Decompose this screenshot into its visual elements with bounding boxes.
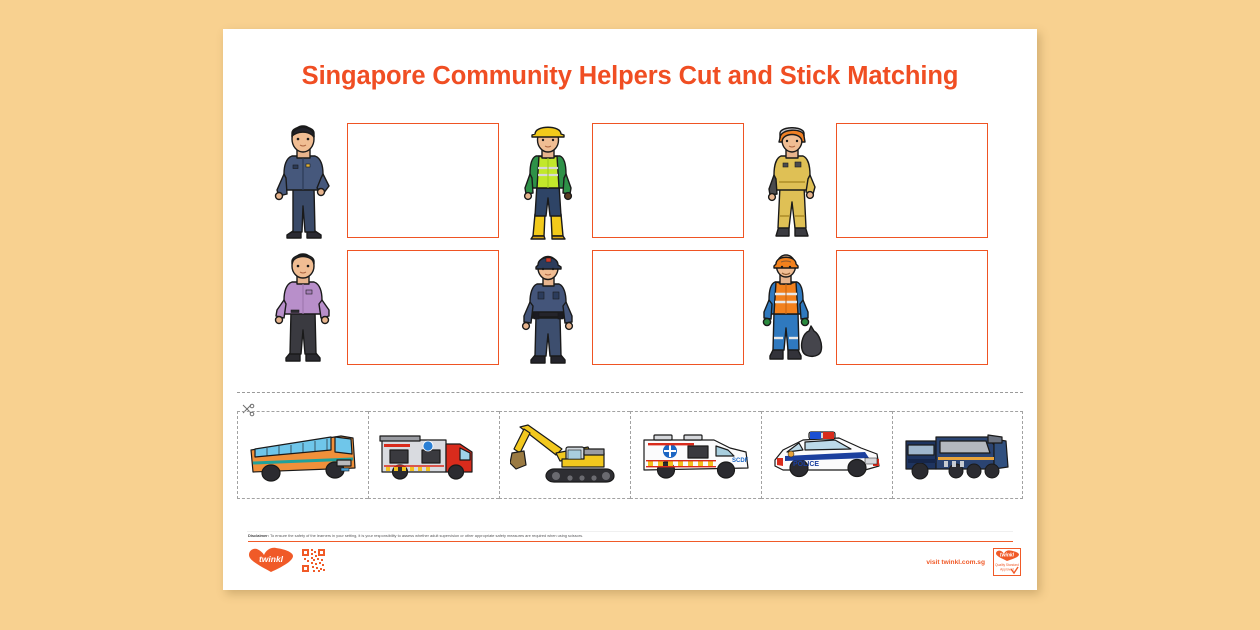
refuse-collector-icon bbox=[754, 248, 830, 368]
match-pair-police-officer bbox=[265, 117, 510, 244]
police-officer-cap-icon bbox=[510, 248, 586, 368]
matching-grid bbox=[265, 117, 999, 371]
brand-right: visit twinkl.com.sg twinkl Quality Stand… bbox=[926, 548, 1021, 576]
visit-link[interactable]: visit twinkl.com.sg bbox=[926, 559, 985, 566]
footer-orange-rule bbox=[248, 541, 1013, 542]
svg-text:SCDF: SCDF bbox=[732, 458, 749, 464]
cut-out-excavator[interactable] bbox=[499, 411, 630, 499]
answer-box[interactable] bbox=[836, 123, 988, 238]
answer-box[interactable] bbox=[592, 123, 744, 238]
svg-text:twinkl: twinkl bbox=[1000, 553, 1015, 559]
disclaimer-body: To ensure the safety of the learners in … bbox=[269, 533, 583, 538]
qr-code-icon[interactable] bbox=[301, 548, 326, 573]
bus-driver-icon bbox=[265, 248, 341, 368]
cut-out-bus[interactable] bbox=[237, 411, 368, 499]
svg-text:POLICE: POLICE bbox=[793, 461, 819, 468]
match-pair-refuse-collector bbox=[754, 244, 999, 371]
cut-out-police-car[interactable]: POLICE bbox=[761, 411, 892, 499]
worksheet-page: Singapore Community Helpers Cut and Stic… bbox=[223, 29, 1037, 590]
firefighter-icon bbox=[754, 121, 830, 241]
twinkl-quality-badge-icon: twinkl Quality Standard Approved bbox=[993, 548, 1021, 576]
svg-text:Quality Standard: Quality Standard bbox=[995, 563, 1019, 567]
disclaimer-text: Disclaimer: To ensure the safety of the … bbox=[248, 533, 948, 539]
disclaimer-label: Disclaimer: bbox=[248, 533, 269, 538]
police-officer-icon bbox=[265, 121, 341, 241]
footer-divider bbox=[247, 531, 1013, 532]
answer-box[interactable] bbox=[347, 250, 499, 365]
match-pair-firefighter bbox=[754, 117, 999, 244]
cut-out-fire-engine[interactable] bbox=[368, 411, 499, 499]
cut-out-refuse-truck[interactable] bbox=[892, 411, 1023, 499]
brand-left: twinkl bbox=[248, 547, 326, 573]
cut-out-strip: SCDF POLICE bbox=[237, 411, 1023, 499]
answer-box[interactable] bbox=[836, 250, 988, 365]
match-pair-police-officer-cap bbox=[510, 244, 755, 371]
svg-text:twinkl: twinkl bbox=[259, 554, 284, 564]
cut-out-ambulance[interactable]: SCDF bbox=[630, 411, 761, 499]
match-pair-construction-worker bbox=[510, 117, 755, 244]
cut-line-divider bbox=[237, 392, 1023, 393]
twinkl-heart-logo-icon[interactable]: twinkl bbox=[248, 547, 294, 573]
match-pair-bus-driver bbox=[265, 244, 510, 371]
answer-box[interactable] bbox=[347, 123, 499, 238]
page-title: Singapore Community Helpers Cut and Stic… bbox=[223, 62, 1037, 91]
answer-box[interactable] bbox=[592, 250, 744, 365]
construction-worker-icon bbox=[510, 121, 586, 241]
